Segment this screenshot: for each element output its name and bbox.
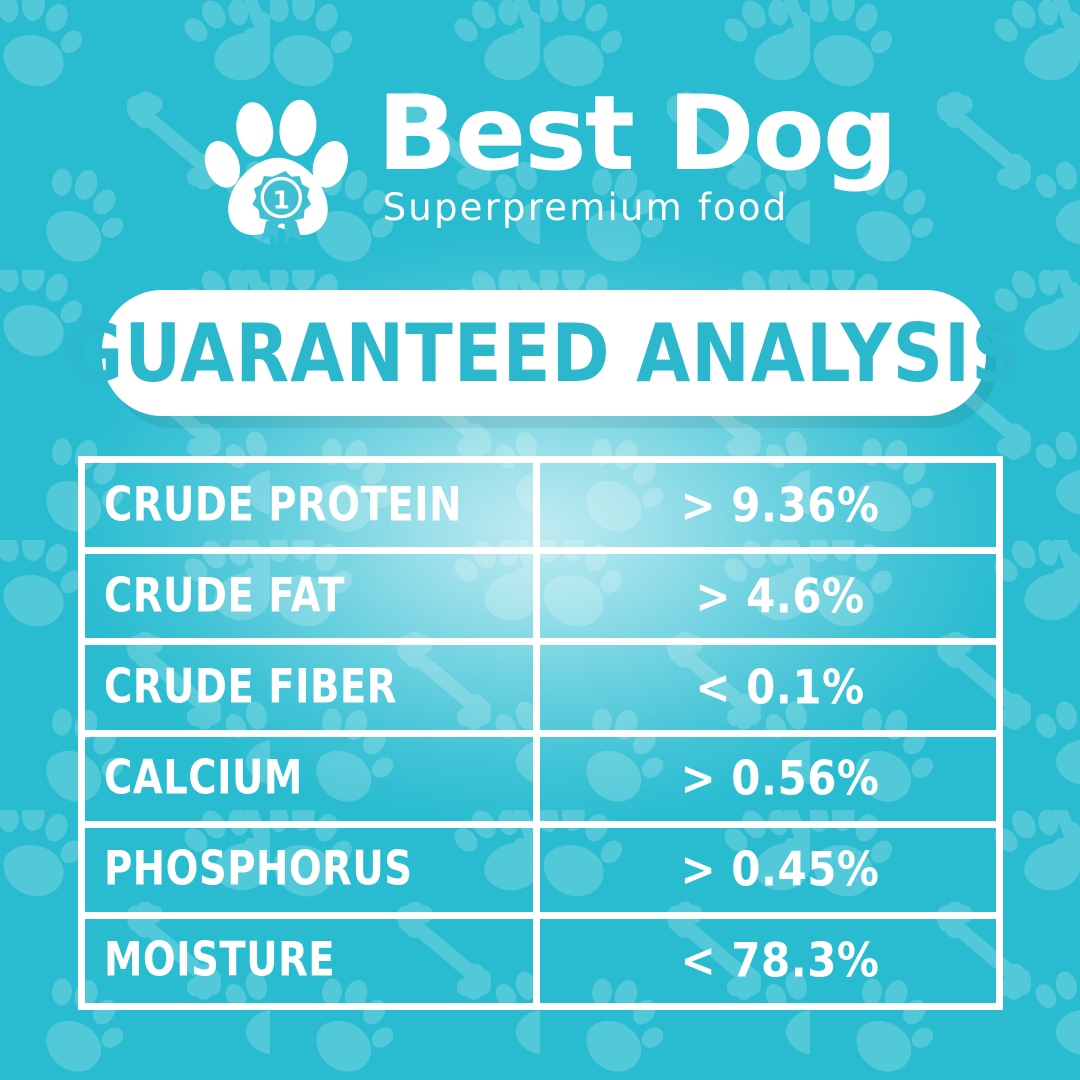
- page-title: GUARANTEED ANALYSIS: [66, 306, 1023, 400]
- badge-number-text: 1: [272, 185, 289, 214]
- nutrient-value-cell: < 0.1%: [540, 645, 996, 729]
- nutrient-name-text: CRUDE FIBER: [104, 660, 397, 715]
- nutrient-value-cell: > 9.36%: [540, 463, 996, 547]
- title-banner: GUARANTEED ANALYSIS: [102, 290, 986, 416]
- brand-tagline-text: Superpremium food: [383, 189, 789, 226]
- table-row: CRUDE FIBER < 0.1%: [85, 645, 996, 736]
- brand-name-text: Best Dog: [377, 84, 896, 185]
- table-row: PHOSPHORUS > 0.45%: [85, 828, 996, 919]
- nutrient-value-cell: > 0.56%: [540, 737, 996, 821]
- nutrient-value-text: < 0.1%: [695, 660, 864, 715]
- table-row: CALCIUM > 0.56%: [85, 737, 996, 828]
- nutrient-name-text: MOISTURE: [104, 933, 335, 988]
- nutrient-value-text: > 9.36%: [680, 478, 879, 533]
- brand-wordmark: Best Dog Superpremium food: [377, 84, 886, 226]
- nutrient-name-text: PHOSPHORUS: [104, 842, 413, 897]
- nutrient-value-cell: < 78.3%: [540, 919, 996, 1003]
- nutrient-name-cell: CRUDE FIBER: [85, 645, 540, 729]
- nutrient-value-cell: > 4.6%: [540, 554, 996, 638]
- nutrient-value-text: > 4.6%: [695, 569, 864, 624]
- nutrient-value-text: < 78.3%: [680, 933, 879, 988]
- nutrient-name-cell: PHOSPHORUS: [85, 828, 540, 912]
- table-row: MOISTURE < 78.3%: [85, 919, 996, 1003]
- nutrient-name-cell: CALCIUM: [85, 737, 540, 821]
- nutrient-name-text: CALCIUM: [104, 751, 303, 806]
- nutrient-name-text: CRUDE PROTEIN: [104, 478, 462, 533]
- brand-logo: 1 Best Dog Superpremium food: [0, 84, 1080, 254]
- nutrient-name-cell: CRUDE PROTEIN: [85, 463, 540, 547]
- paw-print-award-icon: 1: [195, 88, 361, 254]
- guaranteed-analysis-poster: 1 Best Dog Superpremium food GUARANTEED …: [0, 0, 1080, 1080]
- nutrient-value-cell: > 0.45%: [540, 828, 996, 912]
- nutrient-value-text: > 0.45%: [680, 842, 879, 897]
- guaranteed-analysis-table: CRUDE PROTEIN > 9.36% CRUDE FAT > 4.6% C…: [78, 456, 1003, 1010]
- nutrient-value-text: > 0.56%: [680, 751, 879, 806]
- table-row: CRUDE PROTEIN > 9.36%: [85, 463, 996, 554]
- nutrient-name-cell: MOISTURE: [85, 919, 540, 1003]
- table-row: CRUDE FAT > 4.6%: [85, 554, 996, 645]
- nutrient-name-cell: CRUDE FAT: [85, 554, 540, 638]
- nutrient-name-text: CRUDE FAT: [104, 569, 345, 624]
